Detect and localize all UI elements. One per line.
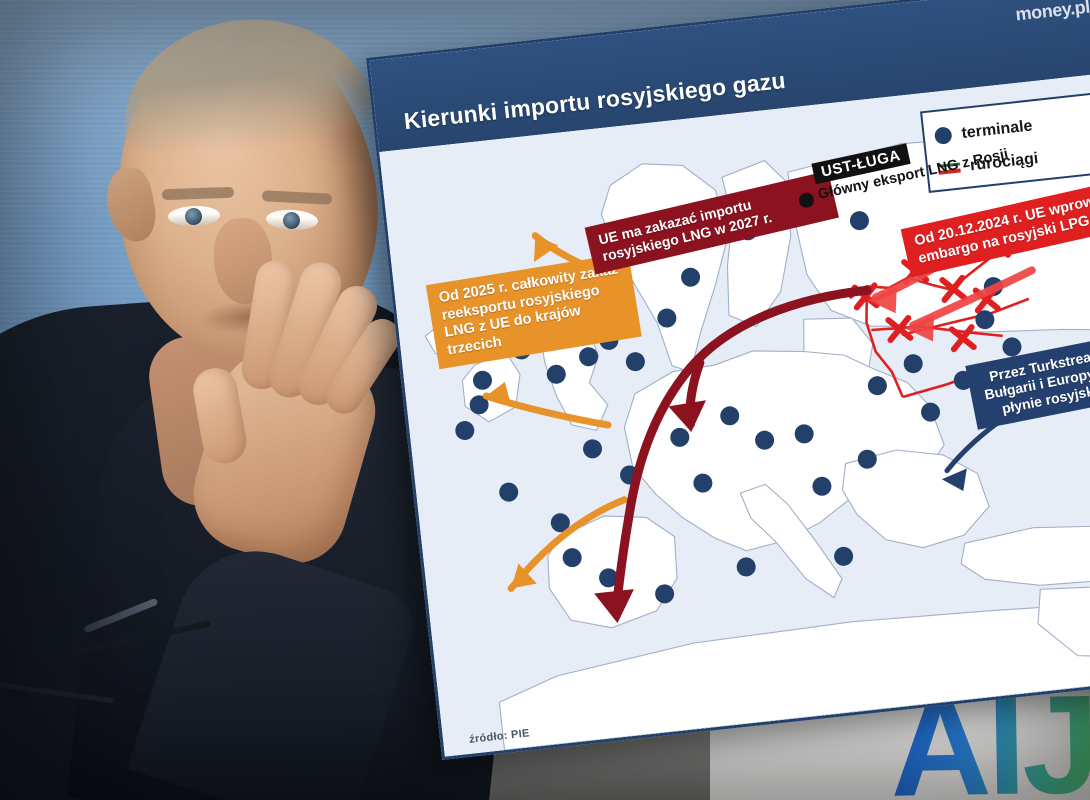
terminal-dot — [582, 438, 603, 459]
money-pl-logo: money.pl — [1015, 0, 1090, 26]
terminal-dot — [498, 482, 519, 503]
terminal-dot — [833, 546, 854, 567]
terminal-dot — [903, 353, 924, 374]
map-canvas: terminale rurociągi Od 2025 r. całkowity… — [379, 72, 1090, 757]
terminal-dot — [625, 351, 646, 372]
terminal-dot — [454, 420, 475, 441]
terminal-dot — [736, 556, 757, 577]
screenshot-root: AIJ — [0, 0, 1090, 800]
infographic-card: Kierunki importu rosyjskiego gazu money.… — [366, 0, 1090, 760]
